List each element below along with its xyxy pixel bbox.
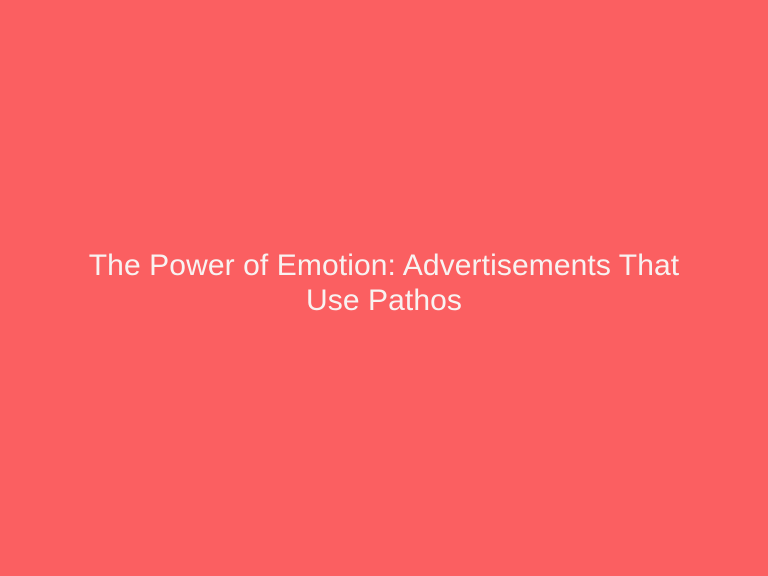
page-title: The Power of Emotion: Advertisements Tha… bbox=[64, 248, 704, 318]
hero-banner: The Power of Emotion: Advertisements Tha… bbox=[0, 0, 768, 576]
hero-content: The Power of Emotion: Advertisements Tha… bbox=[64, 248, 704, 318]
